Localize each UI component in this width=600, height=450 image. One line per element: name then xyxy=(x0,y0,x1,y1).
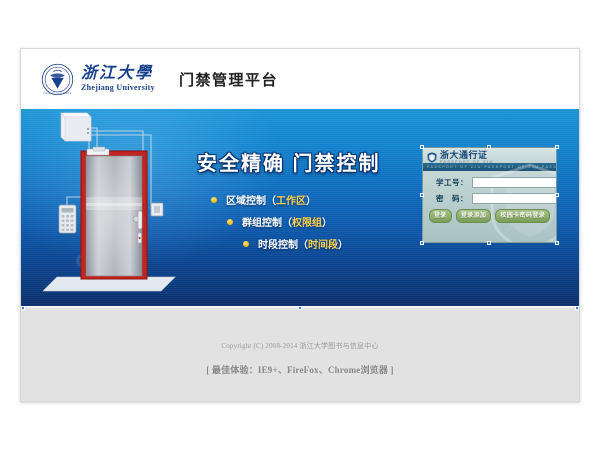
login-panel-title: 浙大通行证 xyxy=(440,151,488,160)
bullet-icon xyxy=(243,241,249,247)
feature-item-group: 群组控制（ 权限组 ） xyxy=(197,214,417,229)
selection-handle-bottom-center[interactable] xyxy=(487,241,491,245)
hero-headline: 安全精确 门禁控制 xyxy=(197,147,417,176)
userid-label: 学工号： xyxy=(430,177,468,188)
bullet-icon xyxy=(227,219,233,225)
login-form: 学工号： 密 码： 登录 登录添加 校园卡密码登录 xyxy=(423,171,556,223)
feature-item-area: 区域控制（ 工作区 ） xyxy=(197,192,417,207)
exit-button-device xyxy=(151,203,163,216)
selection-handle-top-left[interactable] xyxy=(420,145,424,149)
feature-highlight: 时间段 xyxy=(308,236,338,251)
page-title: 门禁管理平台 xyxy=(179,69,278,90)
card-reader-keypad xyxy=(59,205,76,233)
site-logo[interactable]: ZHEJIANG UNIVERSITY 浙江大學 Zhejiang Univer… xyxy=(41,63,155,96)
login-button[interactable]: 登录 xyxy=(429,209,452,223)
selection-handle-bottom-left[interactable] xyxy=(420,241,424,245)
selection-handle-middle-left[interactable] xyxy=(420,193,424,197)
hero-banner: 安全精确 门禁控制 区域控制（ 工作区 ） 群组控制（ 权限组 ） 时段控制（ xyxy=(21,109,579,306)
site-header: ZHEJIANG UNIVERSITY 浙江大學 Zhejiang Univer… xyxy=(21,49,579,109)
feature-tail: ） xyxy=(322,214,332,229)
feature-label: 时段控制（ xyxy=(258,236,308,251)
door-access-control-illustration xyxy=(43,111,195,297)
login-add-button[interactable]: 登录添加 xyxy=(456,209,492,223)
footer-copyright: Copyright (C) 2008-2014 浙江大学图书与信息中心 xyxy=(21,308,579,351)
login-panel-subtitle: PASSPORT OF ZJU xyxy=(440,160,494,164)
selection-handle-middle-right[interactable] xyxy=(555,193,559,197)
feature-tail: ） xyxy=(306,192,316,207)
login-button-row: 登录 登录添加 校园卡密码登录 xyxy=(430,209,549,223)
logo-text-cn: 浙江大學 xyxy=(81,66,155,82)
passport-strip-text: PASSPORT OF ZJU PASSPORT OF ZJU PASSPORT… xyxy=(423,165,556,169)
feature-tail: ） xyxy=(338,236,348,251)
password-label: 密 码： xyxy=(430,193,468,204)
banner-selection-handle-center[interactable] xyxy=(298,306,302,310)
selection-handle-top-center[interactable] xyxy=(487,145,491,149)
feature-list: 区域控制（ 工作区 ） 群组控制（ 权限组 ） 时段控制（ 时间段 ） xyxy=(197,192,417,251)
password-input[interactable] xyxy=(472,193,557,204)
hero-copy: 安全精确 门禁控制 区域控制（ 工作区 ） 群组控制（ 权限组 ） 时段控制（ xyxy=(197,147,417,258)
feature-label: 区域控制（ xyxy=(226,192,276,207)
userid-input[interactable] xyxy=(472,177,557,188)
svg-text:ZHEJIANG UNIVERSITY: ZHEJIANG UNIVERSITY xyxy=(43,91,71,94)
controller-box xyxy=(61,113,91,141)
passport-strip: PASSPORT OF ZJU PASSPORT OF ZJU PASSPORT… xyxy=(423,163,556,171)
footer-browser-note: [ 最佳体验：IE9+、FireFox、Chrome浏览器 ] xyxy=(21,351,579,376)
site-footer: Copyright (C) 2008-2014 浙江大学图书与信息中心 [ 最佳… xyxy=(21,306,579,401)
shield-icon xyxy=(427,150,437,161)
logo-text-en: Zhejiang University xyxy=(81,84,155,92)
feature-highlight: 权限组 xyxy=(292,214,322,229)
userid-row: 学工号： xyxy=(430,177,549,188)
banner-selection-handle-left[interactable] xyxy=(21,306,25,310)
feature-highlight: 工作区 xyxy=(276,192,306,207)
banner-selection-handle-right[interactable] xyxy=(575,306,579,310)
login-panel[interactable]: 浙大通行证 PASSPORT OF ZJU PASSPORT OF ZJU PA… xyxy=(422,147,557,243)
selection-handle-top-right[interactable] xyxy=(555,145,559,149)
campus-card-login-button[interactable]: 校园卡密码登录 xyxy=(495,209,550,223)
feature-label: 群组控制（ xyxy=(242,214,292,229)
zju-seal-icon: ZHEJIANG UNIVERSITY xyxy=(41,63,74,96)
selection-handle-bottom-right[interactable] xyxy=(555,241,559,245)
login-panel-titlebar: 浙大通行证 PASSPORT OF ZJU xyxy=(423,148,556,163)
password-row: 密 码： xyxy=(430,193,549,204)
bullet-icon xyxy=(211,197,217,203)
page-shell: ZHEJIANG UNIVERSITY 浙江大學 Zhejiang Univer… xyxy=(20,48,580,402)
feature-item-timeslot: 时段控制（ 时间段 ） xyxy=(197,236,417,251)
